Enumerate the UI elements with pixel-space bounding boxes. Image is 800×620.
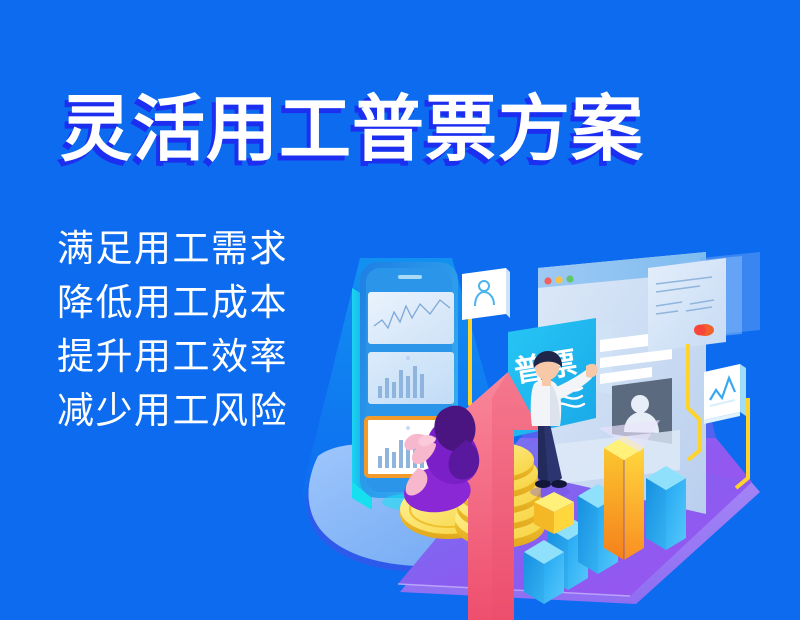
bar-5	[524, 540, 564, 604]
bar-4	[646, 466, 686, 550]
poster-canvas: 普票	[0, 0, 800, 620]
benefit-item-2: 降低用工成本	[57, 276, 288, 330]
bar-3-highlight	[602, 436, 644, 560]
page-title: 灵活用工普票方案	[60, 92, 644, 168]
benefit-item-3: 提升用工效率	[57, 330, 288, 384]
floating-document-card	[648, 258, 726, 352]
benefit-item-1: 满足用工需求	[57, 222, 288, 276]
benefit-item-4: 减少用工风险	[57, 384, 288, 438]
benefit-list: 满足用工需求 降低用工成本 提升用工效率 减少用工风险	[57, 222, 288, 438]
